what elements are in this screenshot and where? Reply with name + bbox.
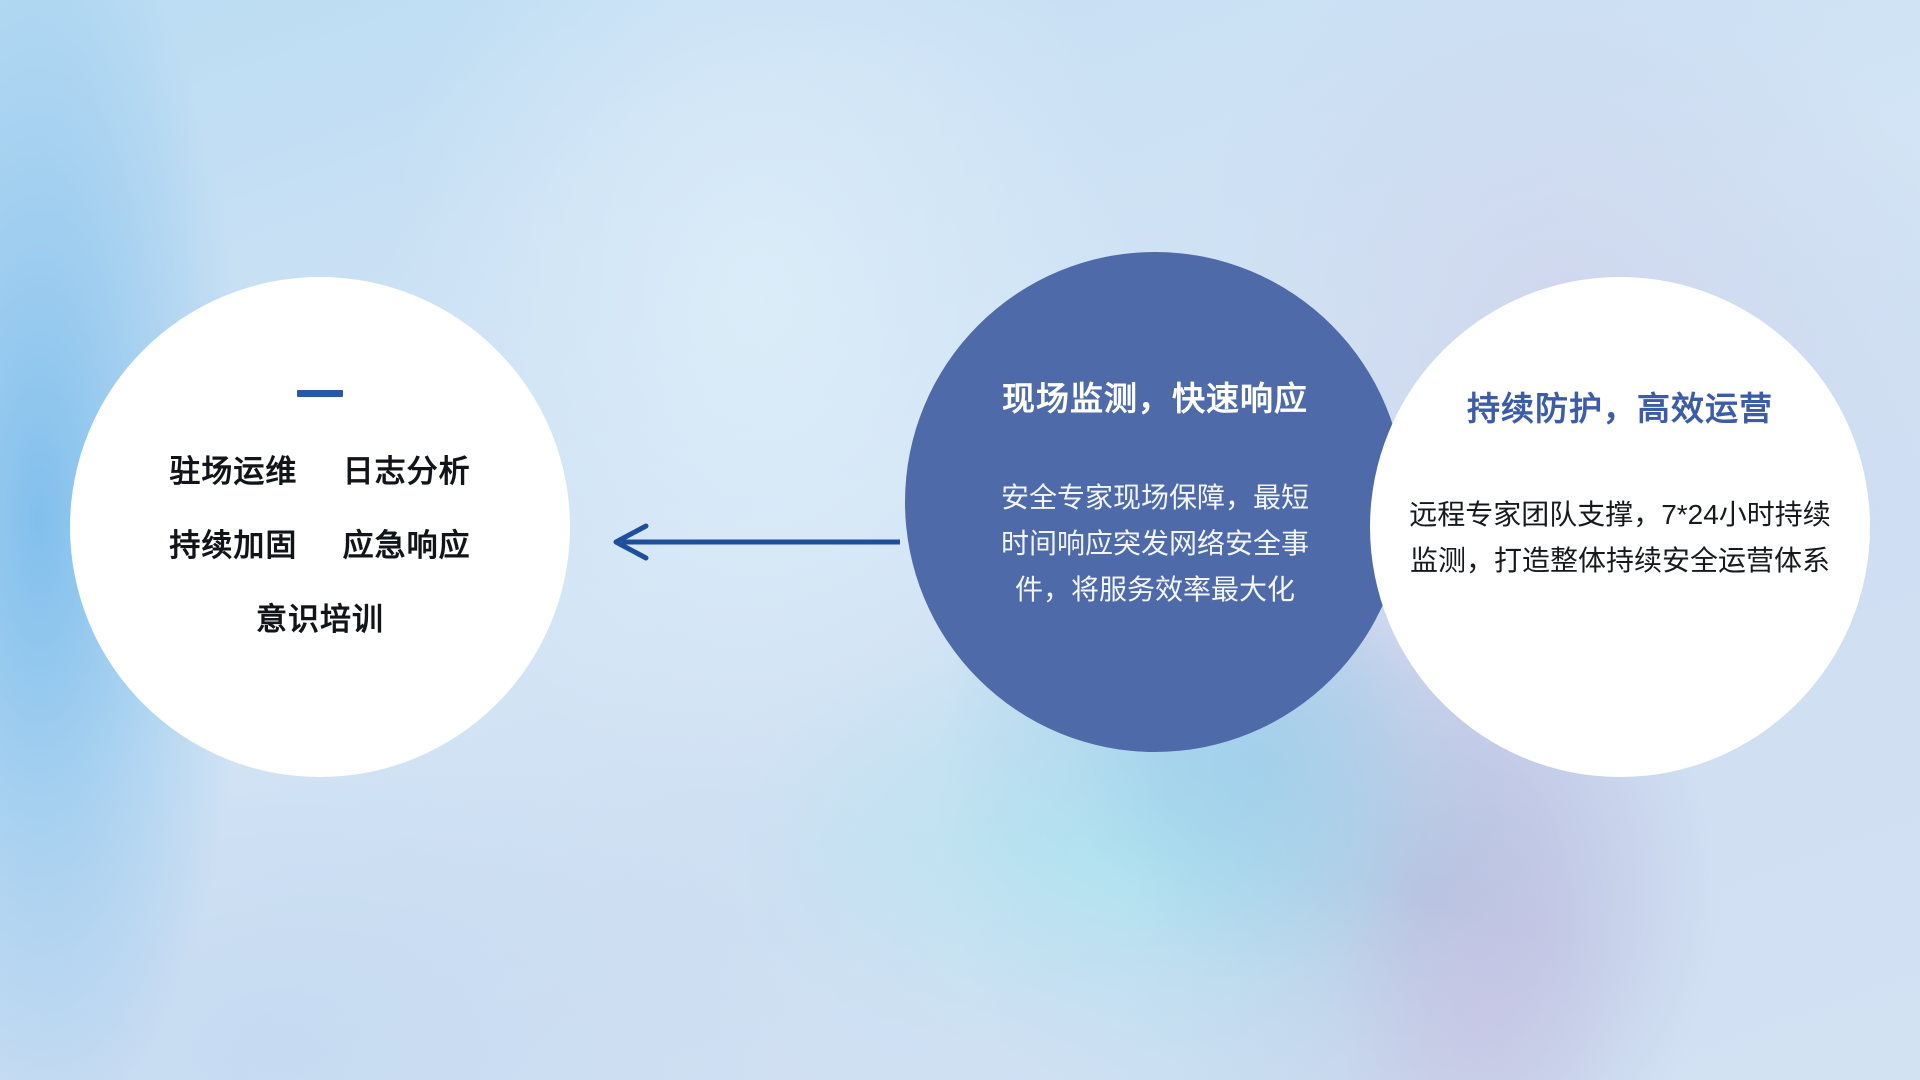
- node-title-continuous-protection: 持续防护，高效运营: [1467, 382, 1773, 430]
- diagram-node-onsite-capabilities: 驻场运维 日志分析 持续加固 应急响应 意识培训: [70, 277, 570, 777]
- capability-tag: 应急响应: [343, 528, 471, 563]
- divider-dash: [297, 390, 343, 397]
- diagram-node-continuous-protection: 持续防护，高效运营 远程专家团队支撑，7*24小时持续监测，打造整体持续安全运营…: [1370, 277, 1870, 777]
- capability-tag: 驻场运维: [169, 454, 297, 489]
- capability-tag-row: 意识培训: [169, 583, 470, 657]
- capability-tag: 持续加固: [169, 528, 297, 563]
- connector-arrow-left-icon: [600, 520, 900, 564]
- diagram-node-onsite-monitoring: 现场监测，快速响应 安全专家现场保障，最短时间响应突发网络安全事件，将服务效率最…: [905, 252, 1405, 752]
- capability-tag: 日志分析: [343, 454, 471, 489]
- node-body-onsite-monitoring: 安全专家现场保障，最短时间响应突发网络安全事件，将服务效率最大化: [990, 475, 1320, 613]
- node-body-continuous-protection: 远程专家团队支撑，7*24小时持续监测，打造整体持续安全运营体系: [1405, 492, 1835, 584]
- capability-tag-row: 持续加固 应急响应: [169, 509, 470, 583]
- capability-tag-list: 驻场运维 日志分析 持续加固 应急响应 意识培训: [169, 435, 470, 657]
- capability-tag-row: 驻场运维 日志分析: [169, 435, 470, 509]
- node-title-onsite-monitoring: 现场监测，快速响应: [1002, 372, 1308, 420]
- capability-tag: 意识培训: [256, 602, 384, 637]
